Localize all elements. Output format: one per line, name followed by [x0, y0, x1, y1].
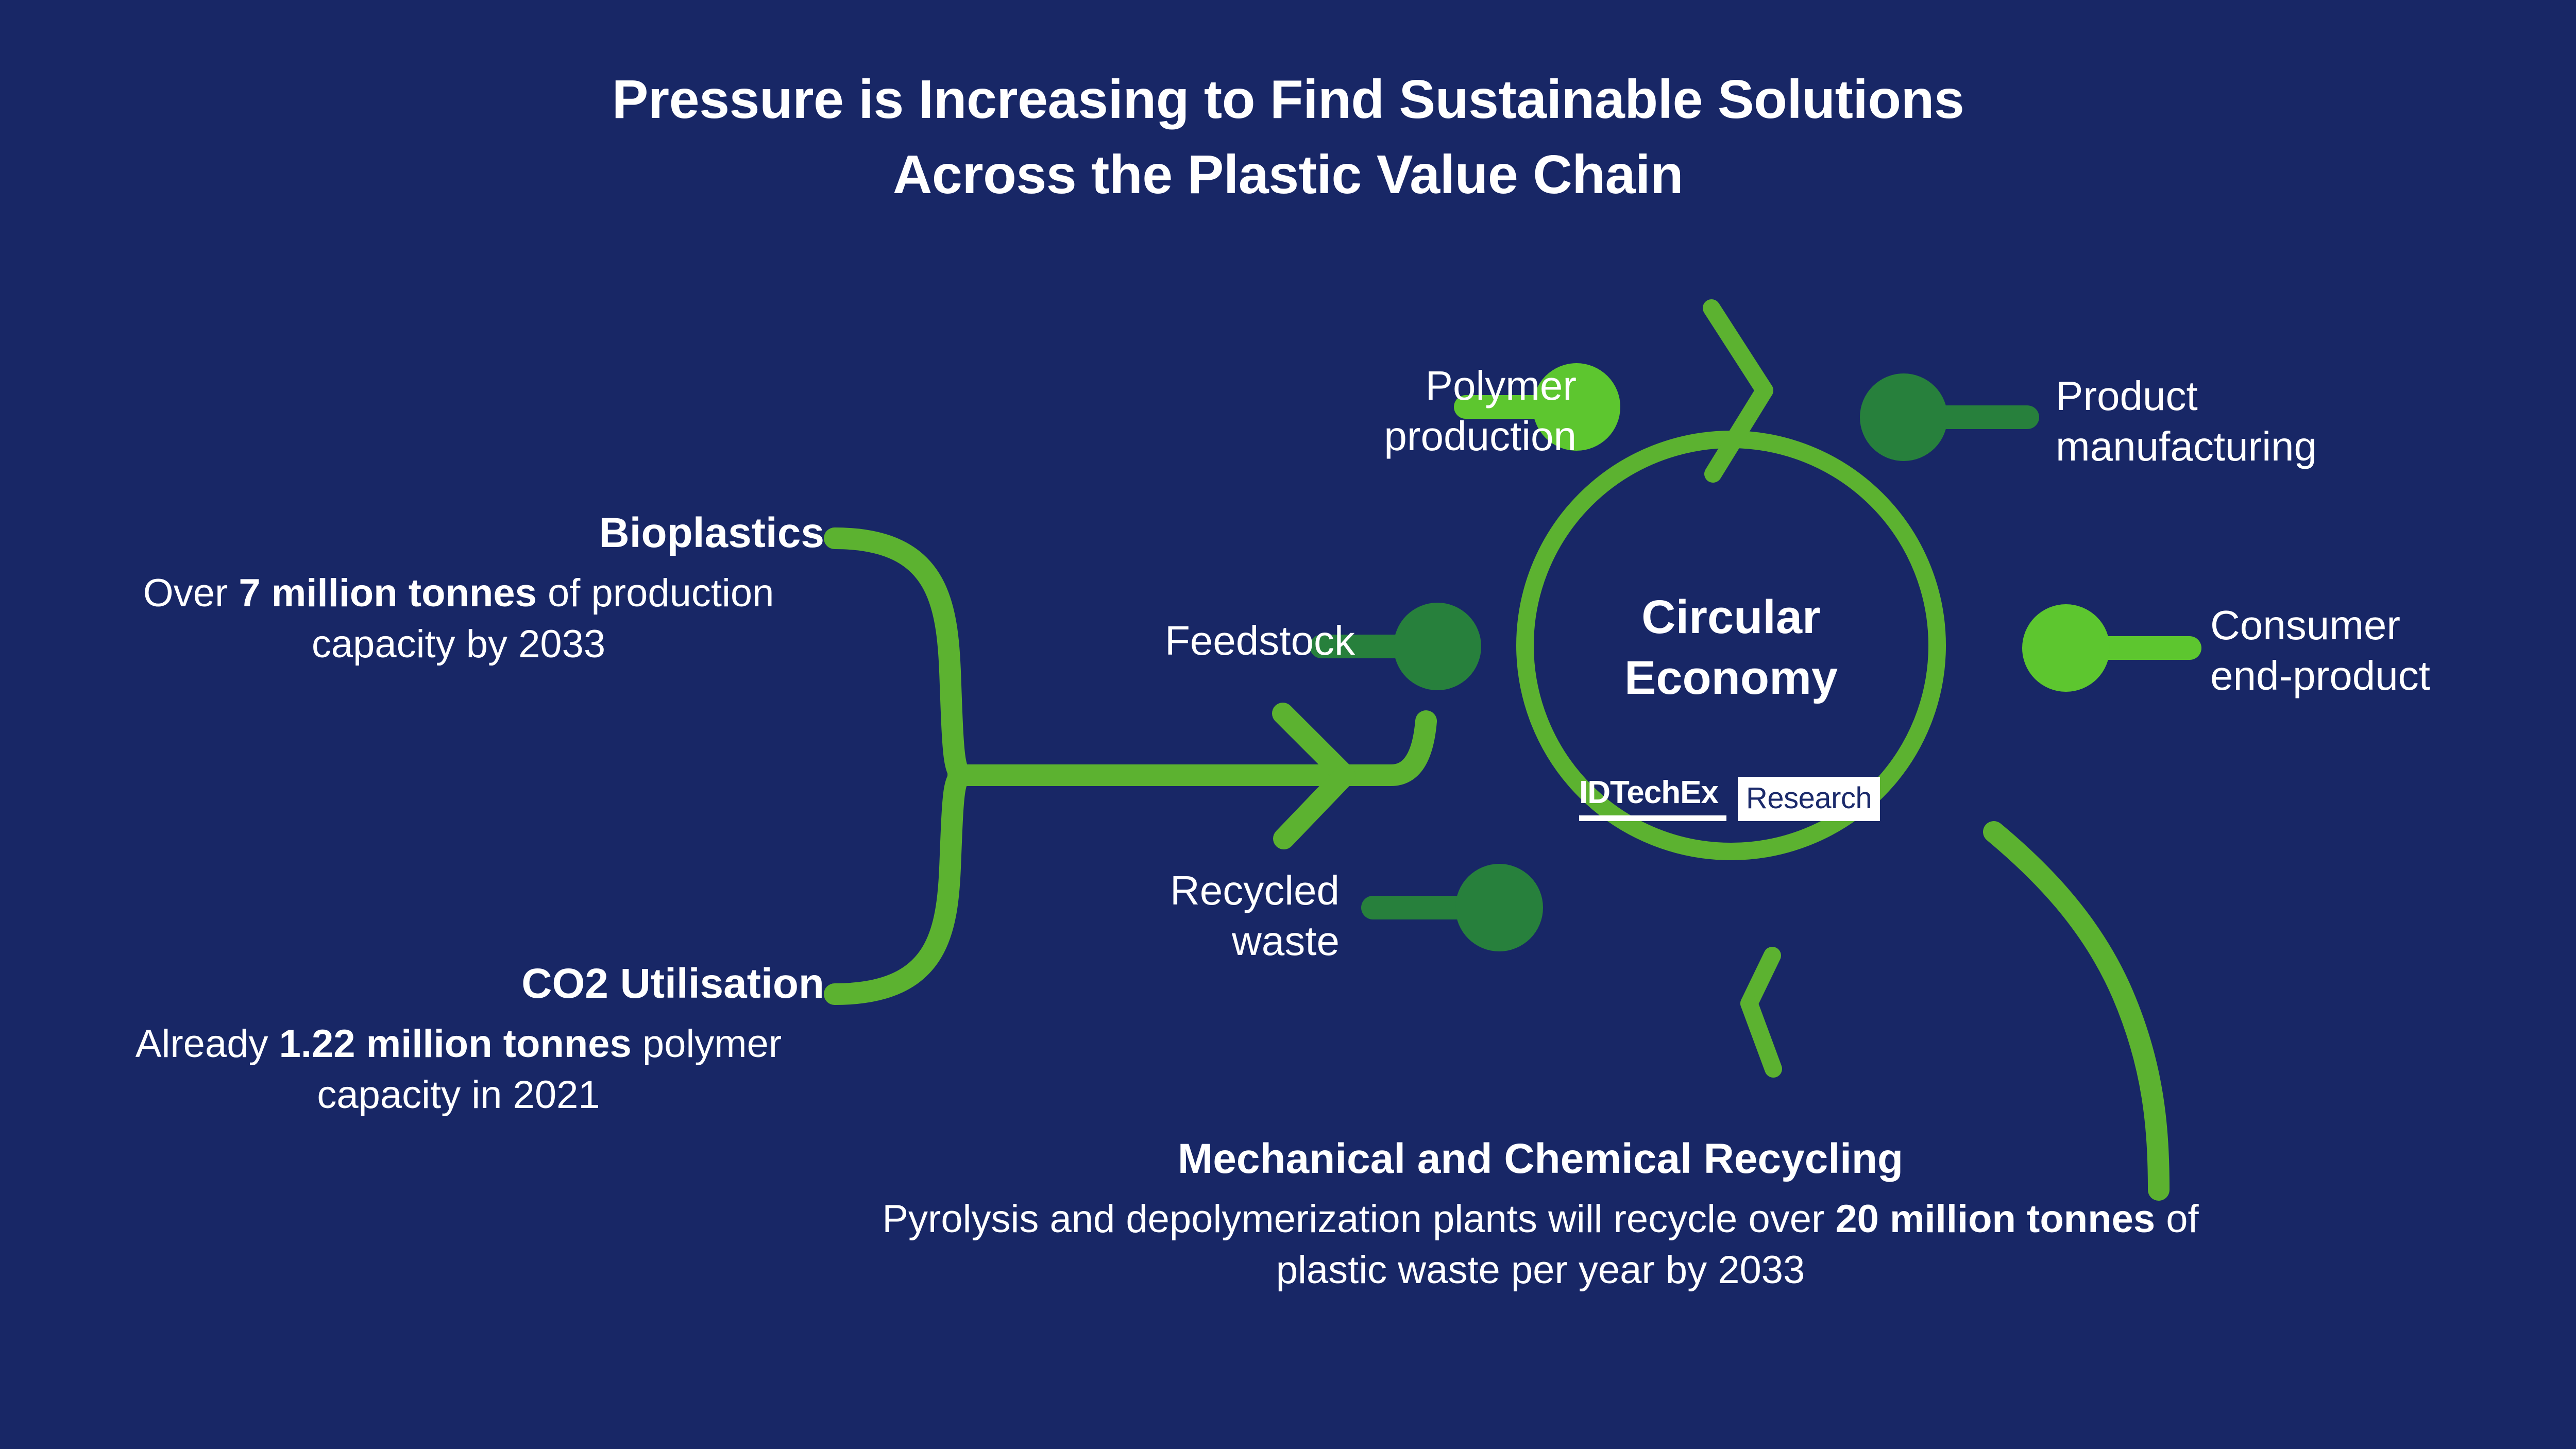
node-label-recycled-waste: Recycled waste	[1082, 865, 1340, 966]
arrowhead-bottom	[1749, 956, 1773, 1069]
callout-co2-body-emphasis: 1.22 million tonnes	[279, 1022, 632, 1066]
callout-recycling-body: Pyrolysis and depolymerization plants wi…	[845, 1194, 2236, 1296]
callout-recycling-body-emphasis: 20 million tonnes	[1835, 1197, 2155, 1241]
node-label-polymer-production: Polymer production	[1185, 361, 1577, 461]
callout-co2-body-pre: Already	[135, 1022, 279, 1066]
node-label-feedstock: Feedstock	[994, 616, 1355, 666]
node-product-manufacturing[interactable]	[1860, 373, 1947, 461]
logo-brand-text: IDTechEx	[1579, 777, 1726, 821]
callout-recycling-heading: Mechanical and Chemical Recycling	[845, 1133, 2236, 1185]
node-recycled-waste[interactable]	[1455, 864, 1543, 951]
centre-caption: Circular Economy	[1525, 587, 1937, 709]
connector-merged-to-feedstock	[958, 721, 1426, 775]
node-label-product-manufacturing: Product manufacturing	[2056, 371, 2519, 471]
callout-recycling-body-pre: Pyrolysis and depolymerization plants wi…	[882, 1197, 1835, 1241]
callout-bioplastics: Bioplastics Over 7 million tonnes of pro…	[93, 507, 824, 670]
callout-bioplastics-heading: Bioplastics	[93, 507, 824, 559]
callout-bioplastics-body-emphasis: 7 million tonnes	[239, 571, 537, 615]
callout-co2-utilisation: CO2 Utilisation Already 1.22 million ton…	[93, 958, 824, 1121]
callout-co2-heading: CO2 Utilisation	[93, 958, 824, 1010]
callout-bioplastics-body: Over 7 million tonnes of production capa…	[93, 568, 824, 670]
callout-bioplastics-body-pre: Over	[143, 571, 239, 615]
callout-recycling: Mechanical and Chemical Recycling Pyroly…	[845, 1133, 2236, 1296]
node-feedstock[interactable]	[1394, 603, 1481, 690]
logo-product-badge: Research	[1738, 777, 1880, 821]
connector-bioplastics	[835, 538, 963, 775]
callout-co2-body: Already 1.22 million tonnes polymer capa…	[93, 1019, 824, 1121]
node-consumer-end-product[interactable]	[2022, 604, 2110, 692]
idtechex-research-logo: IDTechEx Research	[1579, 777, 1880, 821]
connector-co2	[835, 775, 963, 994]
node-label-consumer-end-product: Consumer end-product	[2210, 600, 2571, 701]
infographic-canvas: Pressure is Increasing to Find Sustainab…	[0, 0, 2576, 1449]
